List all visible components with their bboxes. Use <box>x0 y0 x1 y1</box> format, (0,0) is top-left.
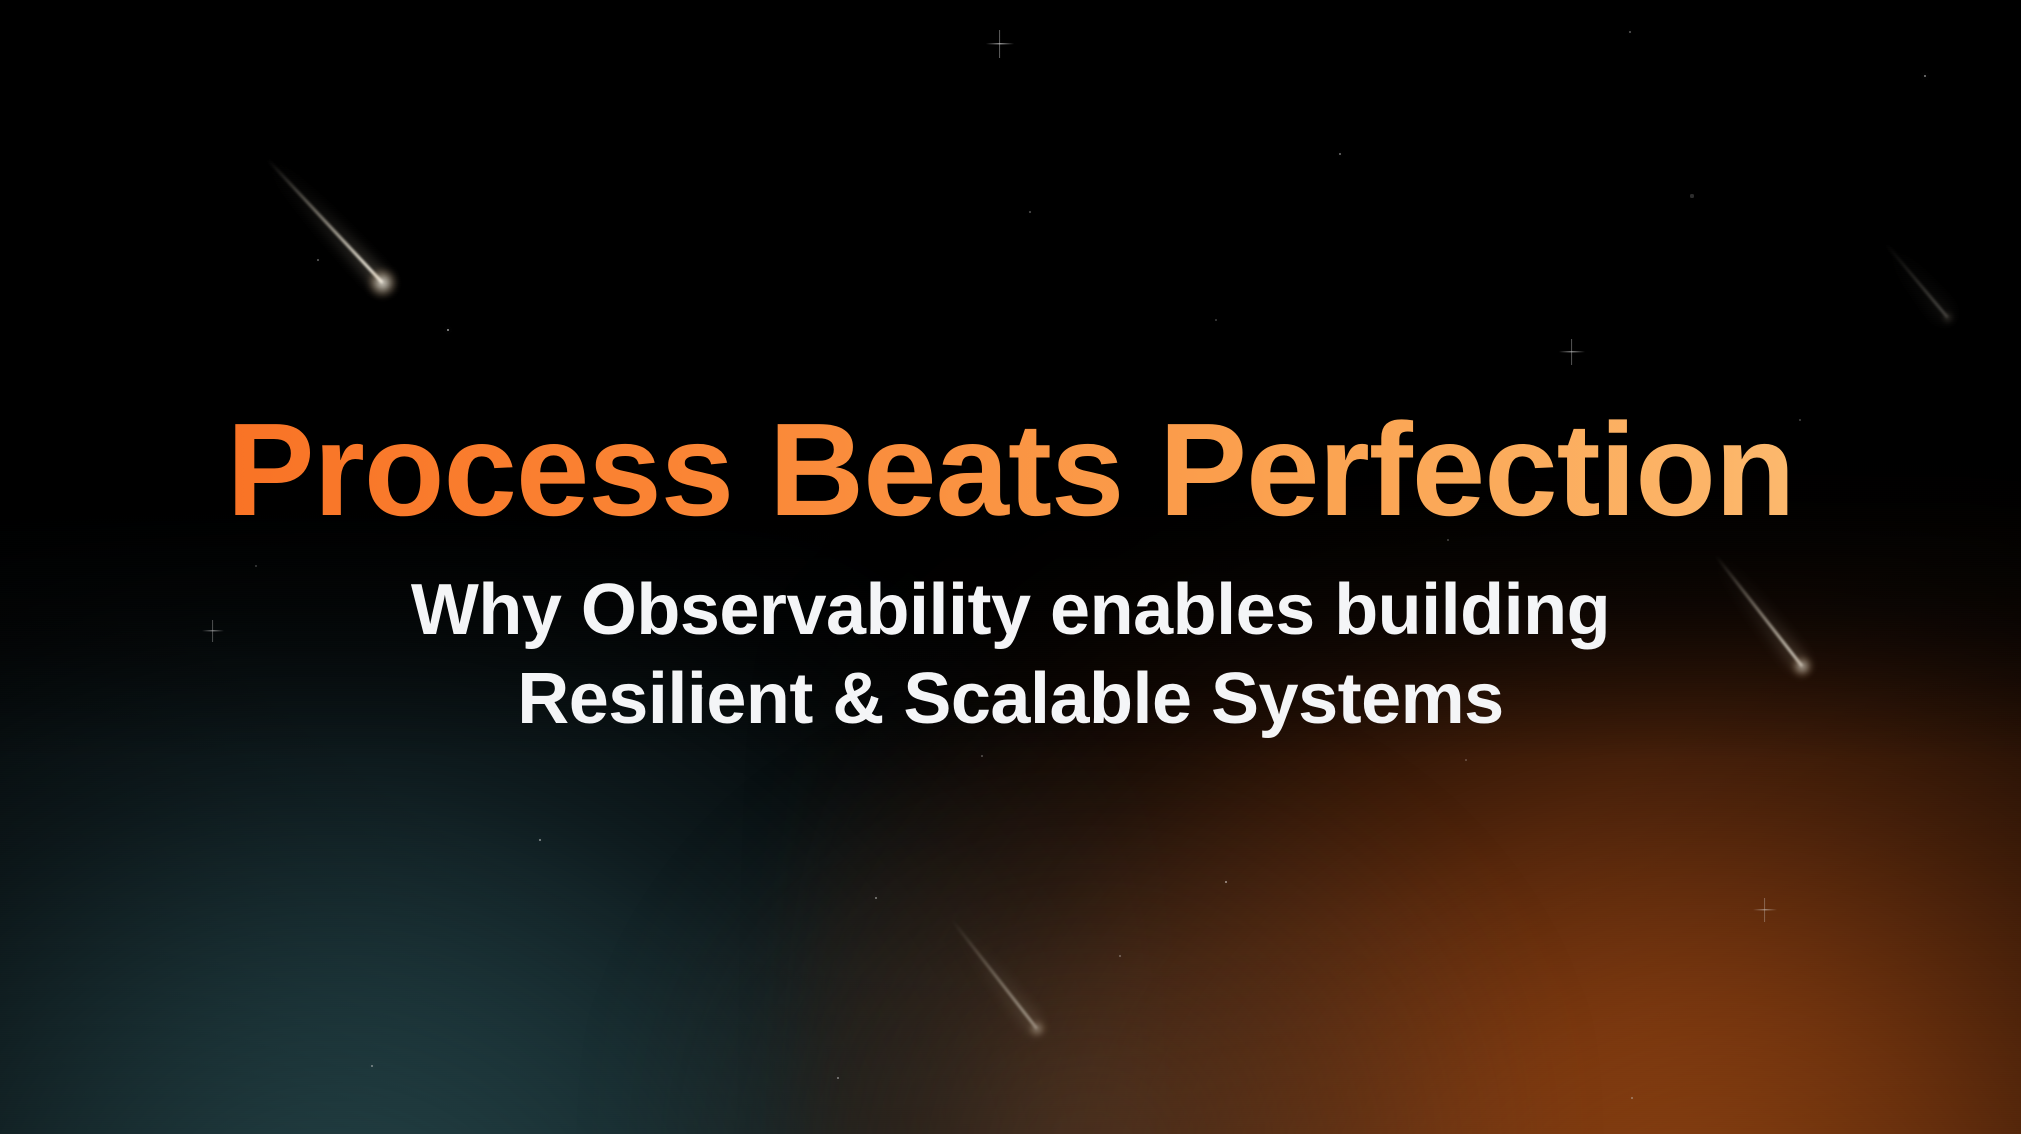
star-dot-icon <box>1690 194 1693 197</box>
star-dot-icon <box>1339 153 1341 155</box>
star-dot-icon <box>539 839 541 841</box>
comet-tail <box>951 919 1038 1030</box>
comet-bottom-center-icon <box>946 915 1044 1034</box>
star-dot-icon <box>317 259 319 261</box>
comet-head <box>1024 1016 1049 1041</box>
star-dot-icon <box>1215 319 1217 321</box>
sparkle-right-upper-icon <box>1559 339 1585 365</box>
star-dot-icon <box>1119 955 1121 957</box>
comet-tail <box>1885 243 1949 318</box>
comet-tail-glow <box>1881 240 1953 323</box>
star-dot-icon <box>837 1077 839 1079</box>
sparkle-bottom-right-icon <box>1753 898 1777 922</box>
star-dot-icon <box>371 1065 374 1068</box>
star-dot-icon <box>1029 211 1031 213</box>
star-dot-icon <box>447 329 449 331</box>
star-dot-icon <box>1629 31 1631 33</box>
subtitle-line-2: Resilient & Scalable Systems <box>0 655 2021 744</box>
comet-tail <box>267 159 384 284</box>
star-dot-icon <box>875 897 878 900</box>
page-subtitle: Why Observability enables building Resil… <box>0 566 2021 745</box>
subtitle-line-1: Why Observability enables building <box>0 566 2021 655</box>
star-dot-icon <box>1225 881 1227 883</box>
comet-head <box>361 262 403 304</box>
sparkle-top-center-icon <box>986 30 1014 58</box>
slide-canvas: Process Beats Perfection Why Observabili… <box>0 0 2021 1134</box>
comet-tail-glow <box>263 155 388 287</box>
title-block: Process Beats Perfection Why Observabili… <box>0 404 2021 745</box>
haze-glow <box>640 734 1540 1134</box>
star-dot-icon <box>1465 759 1467 761</box>
comet-tail-glow <box>946 916 1042 1033</box>
star-dot-icon <box>981 755 983 757</box>
star-dot-icon <box>1924 75 1927 78</box>
comet-head <box>1939 309 1956 326</box>
page-title: Process Beats Perfection <box>0 404 2021 542</box>
comet-top-left-icon <box>262 155 388 289</box>
comet-far-right-icon <box>1880 239 1954 323</box>
star-dot-icon <box>1631 1097 1633 1099</box>
